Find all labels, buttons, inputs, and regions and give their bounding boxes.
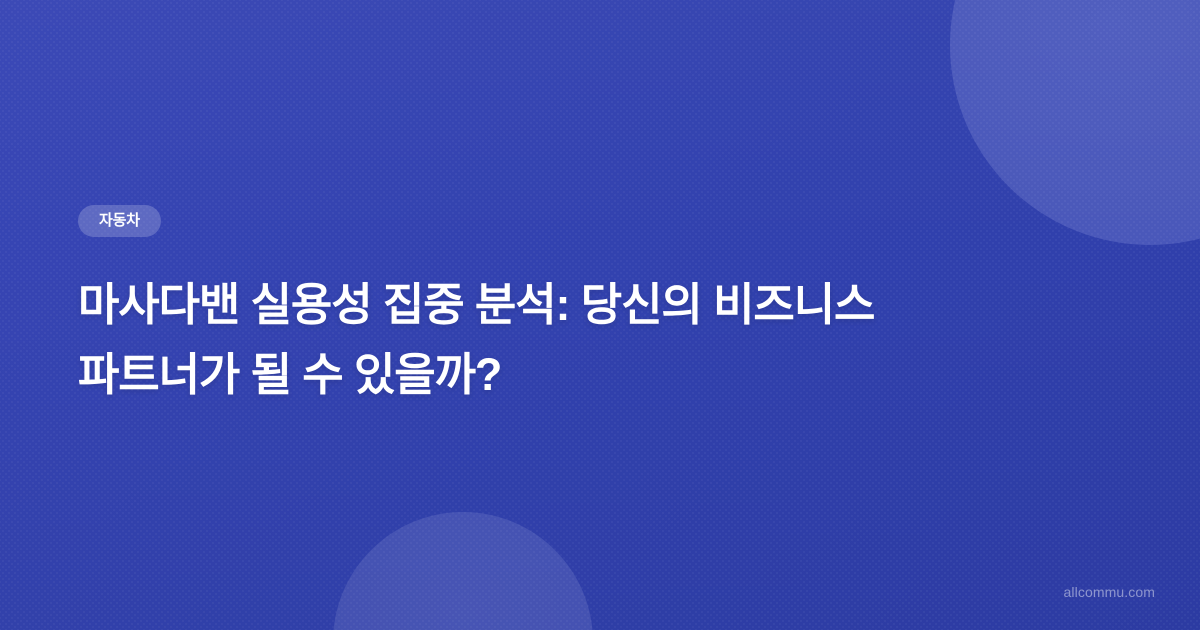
card-content: 자동차 마사다밴 실용성 집중 분석: 당신의 비즈니스 파트너가 될 수 있을… [78,205,1080,410]
site-watermark: allcommu.com [1064,584,1155,600]
headline-title: 마사다밴 실용성 집중 분석: 당신의 비즈니스 파트너가 될 수 있을까? [78,270,998,410]
article-share-card: 자동차 마사다밴 실용성 집중 분석: 당신의 비즈니스 파트너가 될 수 있을… [0,0,1200,630]
category-badge[interactable]: 자동차 [78,205,161,237]
